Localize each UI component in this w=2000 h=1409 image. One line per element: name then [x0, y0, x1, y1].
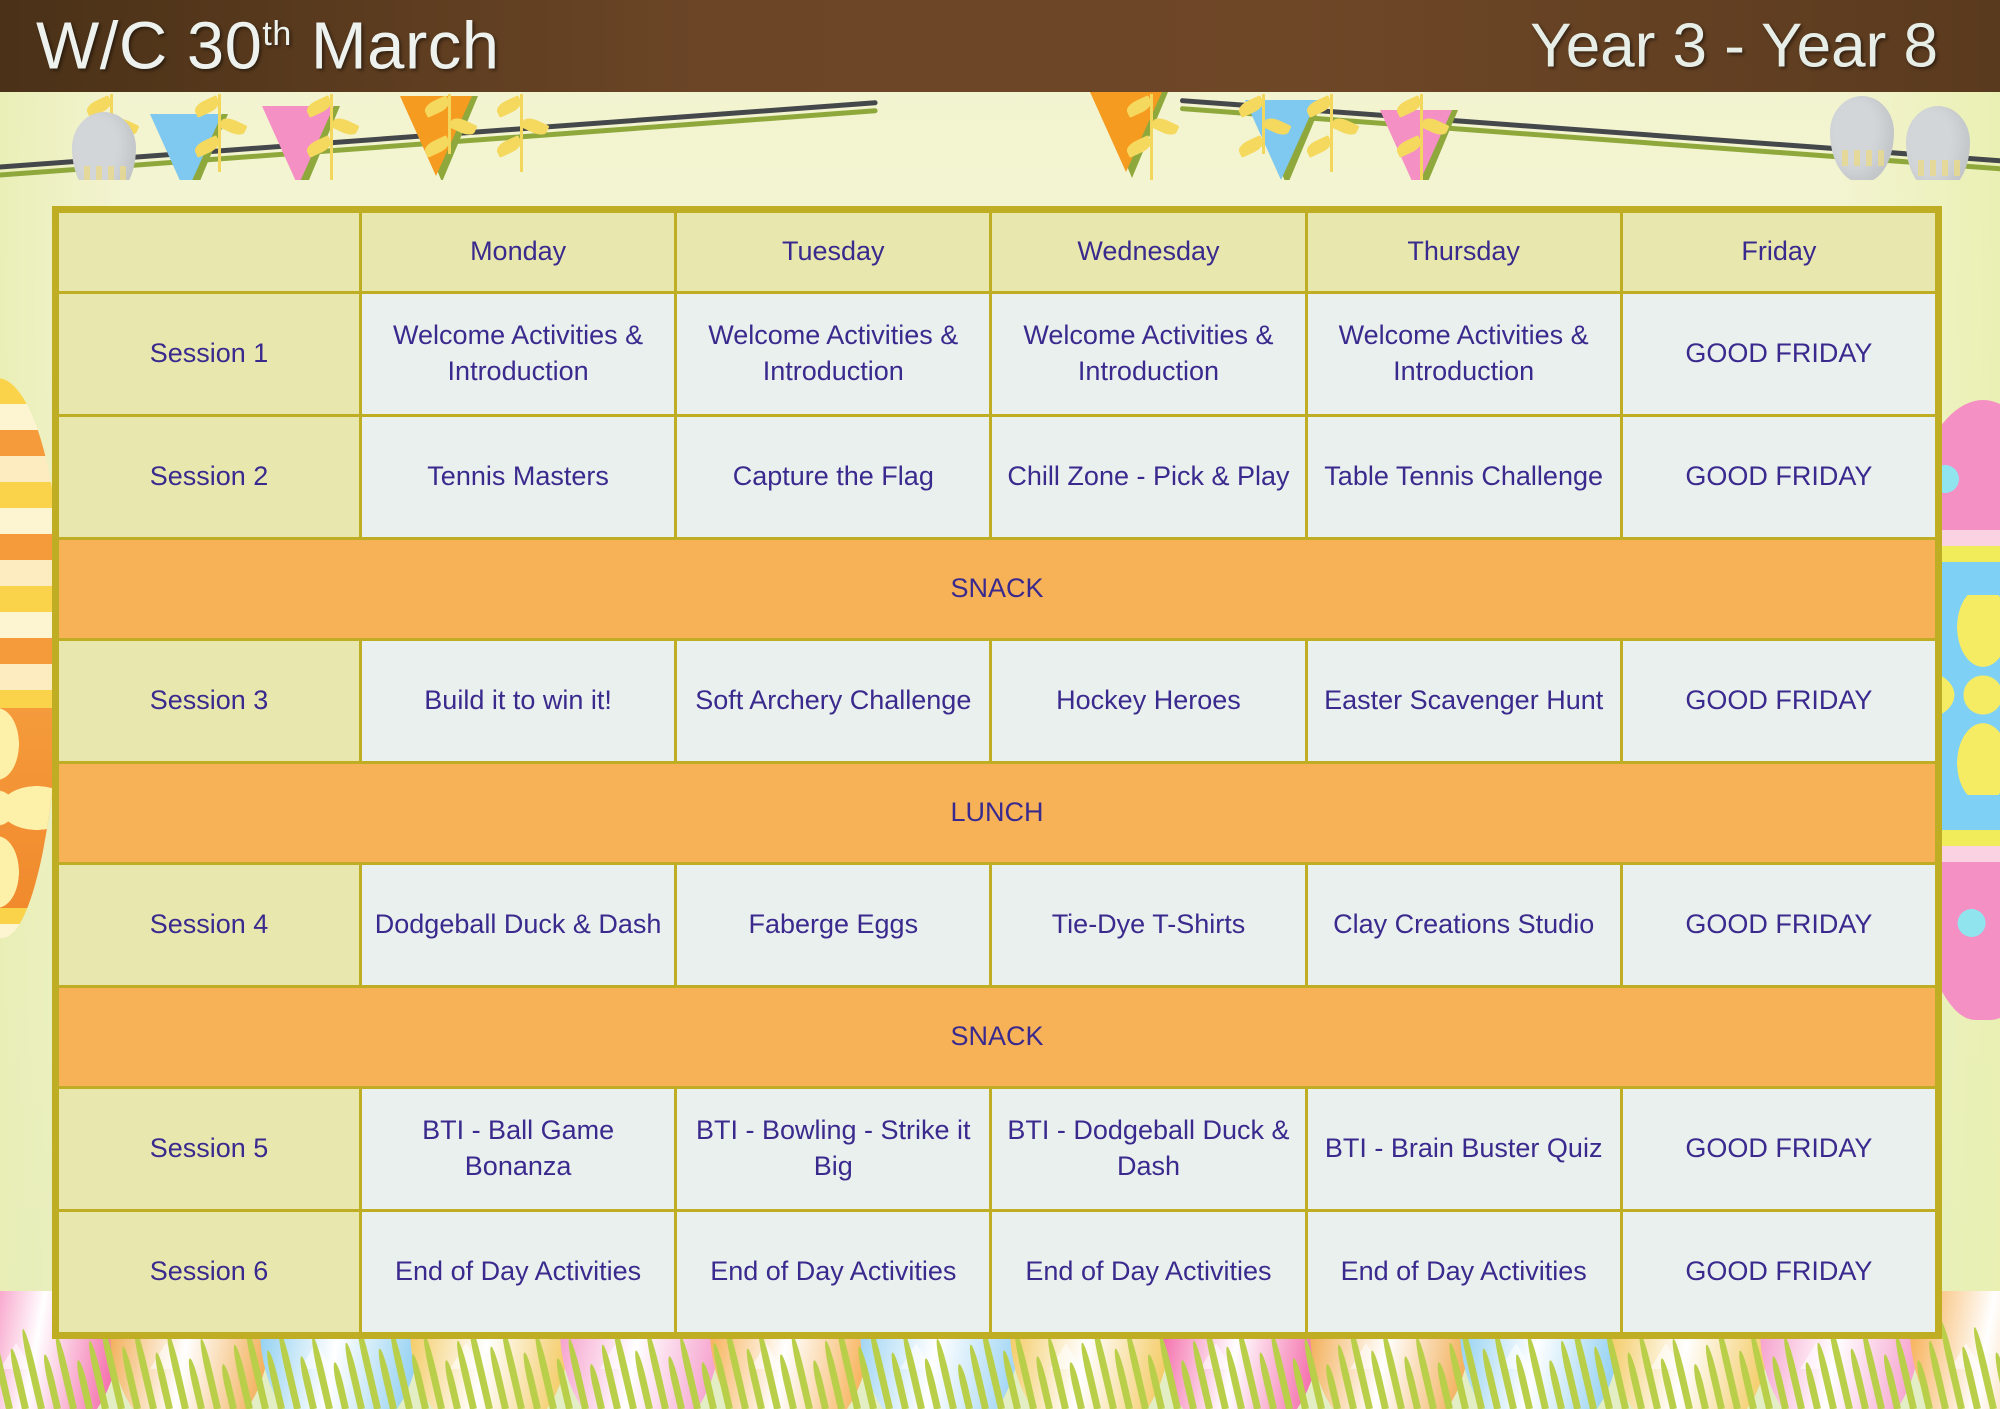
vine-leaf — [422, 135, 451, 158]
grass-blade — [934, 1338, 957, 1409]
grass-blade — [421, 1334, 445, 1409]
bunting-string — [0, 100, 878, 171]
timetable: MondayTuesdayWednesdayThursdayFridaySess… — [56, 210, 1938, 1335]
activity-cell[interactable]: Soft Archery Challenge — [677, 641, 989, 761]
grass-blade — [1993, 1352, 2000, 1409]
activity-cell[interactable]: GOOD FRIDAY — [1623, 1089, 1935, 1209]
bunting-flag — [150, 114, 226, 180]
session-label-cell: Session 2 — [59, 417, 359, 537]
break-label-lunch: LUNCH — [59, 764, 1935, 862]
grass-blade — [231, 1344, 253, 1409]
grass-blade — [8, 1348, 29, 1409]
egg-triangle-pattern — [1050, 1343, 1082, 1369]
day-header-thursday: Thursday — [1308, 213, 1620, 291]
activity-cell[interactable]: Welcome Activities & Introduction — [1308, 294, 1620, 414]
vine-leaf — [448, 115, 477, 138]
grass-blade — [1915, 1359, 1933, 1409]
grass-blade — [699, 1361, 717, 1409]
vine-leaf — [330, 115, 359, 138]
grass-blade — [443, 1359, 461, 1409]
break-row: SNACK — [59, 540, 1935, 638]
grass-blade — [1079, 1342, 1101, 1409]
timetable-corner-cell — [59, 213, 359, 291]
grass-blade — [1269, 1332, 1293, 1409]
bunting-flag — [400, 96, 476, 180]
egg-triangle-pattern — [1800, 1343, 1832, 1369]
grass-blade — [1926, 1340, 1949, 1409]
vine-leaf — [1124, 95, 1153, 118]
grass-blade — [1770, 1356, 1789, 1409]
grass-blade — [889, 1352, 909, 1409]
vine-leaf — [1124, 135, 1153, 158]
grass-blade — [1435, 1361, 1453, 1409]
vine-leaf — [1420, 115, 1449, 138]
grass-blade — [1369, 1350, 1389, 1409]
title-bar: W/C 30th March Year 3 - Year 8 — [0, 0, 2000, 92]
grass-blade — [1803, 1361, 1821, 1409]
break-row: SNACK — [59, 988, 1935, 1086]
grass-blade — [1179, 1359, 1197, 1409]
grass-blade — [265, 1350, 285, 1409]
grass-blade — [1860, 1328, 1885, 1409]
egg-triangle-pattern — [300, 1343, 332, 1369]
grass-blade — [1525, 1334, 1549, 1409]
grass-blade — [0, 1322, 13, 1409]
grass-blade — [711, 1342, 733, 1409]
activity-cell[interactable]: Faberge Eggs — [677, 865, 989, 985]
activity-cell[interactable]: Welcome Activities & Introduction — [677, 294, 989, 414]
activity-cell[interactable]: GOOD FRIDAY — [1623, 417, 1935, 537]
grass-blade — [1971, 1326, 1997, 1409]
egg-triangle-pattern — [1500, 1343, 1532, 1369]
vine-leaf — [84, 95, 113, 118]
bunting-flag — [262, 106, 338, 180]
grass-blade — [120, 1346, 141, 1409]
activity-cell[interactable]: Dodgeball Duck & Dash — [362, 865, 674, 985]
grass-blade — [220, 1363, 237, 1409]
grass-blade — [901, 1332, 925, 1409]
grass-blade — [1447, 1342, 1469, 1409]
vine-leaf — [422, 95, 451, 118]
grass-blade — [198, 1338, 221, 1409]
bunting-flag — [1245, 100, 1321, 180]
grass-blade — [165, 1332, 189, 1409]
grass-blade — [677, 1336, 700, 1409]
grass-blade — [86, 1340, 109, 1409]
year-group-title: Year 3 - Year 8 — [1530, 11, 1938, 82]
hanging-vine — [1150, 94, 1153, 180]
vine-leaf — [192, 135, 221, 158]
bunting-flag — [1090, 92, 1166, 178]
session-row: Session 4Dodgeball Duck & DashFaberge Eg… — [59, 865, 1935, 985]
grass-blade — [1302, 1338, 1325, 1409]
grass-blade — [599, 1344, 621, 1409]
vine-leaf — [84, 135, 113, 158]
grass-blade — [1324, 1363, 1341, 1409]
hanging-white-egg — [1830, 96, 1894, 180]
grass-blade — [1692, 1363, 1709, 1409]
week-label-month: March — [292, 9, 500, 84]
vine-leaf — [110, 115, 139, 138]
grass-blade — [1781, 1336, 1804, 1409]
grass-blade — [331, 1361, 349, 1409]
grass-blade — [1960, 1346, 1981, 1409]
activity-cell[interactable]: End of Day Activities — [362, 1212, 674, 1332]
activity-cell[interactable]: Welcome Activities & Introduction — [992, 294, 1304, 414]
hanging-vine — [448, 94, 451, 154]
session-row: Session 2Tennis MastersCapture the FlagC… — [59, 417, 1935, 537]
activity-cell[interactable]: BTI - Dodgeball Duck & Dash — [992, 1089, 1304, 1209]
grass-blade — [1748, 1330, 1773, 1409]
grass-blade — [922, 1358, 941, 1409]
grass-blade — [153, 1352, 173, 1409]
vine-leaf — [1304, 95, 1333, 118]
grass-blade — [967, 1344, 989, 1409]
activity-cell[interactable]: GOOD FRIDAY — [1623, 641, 1935, 761]
grass-blade — [1001, 1350, 1021, 1409]
vine-leaf — [1150, 115, 1179, 138]
week-commencing-title: W/C 30th March — [36, 8, 500, 85]
grass-blade — [1190, 1340, 1213, 1409]
timetable-container: MondayTuesdayWednesdayThursdayFridaySess… — [52, 206, 1942, 1339]
grass-blade — [644, 1330, 669, 1409]
session-label-cell: Session 3 — [59, 641, 359, 761]
activity-cell[interactable]: GOOD FRIDAY — [1623, 1212, 1935, 1332]
day-header-friday: Friday — [1623, 213, 1935, 291]
bunting-flag — [1380, 110, 1456, 180]
activity-cell[interactable]: Tie-Dye T-Shirts — [992, 865, 1304, 985]
grass-blade — [488, 1346, 509, 1409]
grass-blade — [554, 1358, 573, 1409]
grass-blade — [1848, 1348, 1869, 1409]
grass-blade — [1112, 1348, 1133, 1409]
egg-triangle-pattern — [1350, 1343, 1382, 1369]
grass-blade — [1492, 1328, 1517, 1409]
grass-blade — [1547, 1359, 1565, 1409]
grass-blade — [1257, 1352, 1277, 1409]
egg-triangle-pattern — [900, 1343, 932, 1369]
activity-cell[interactable]: Table Tennis Challenge — [1308, 417, 1620, 537]
activity-cell[interactable]: BTI - Bowling - Strike it Big — [677, 1089, 989, 1209]
grass-blade — [566, 1338, 589, 1409]
egg-triangle-pattern — [150, 1343, 182, 1369]
grass-blade — [186, 1358, 205, 1409]
grass-blade — [1402, 1356, 1421, 1409]
hanging-white-egg — [72, 112, 136, 180]
break-label-snack: SNACK — [59, 540, 1935, 638]
activity-cell[interactable]: End of Day Activities — [1308, 1212, 1620, 1332]
vine-leaf — [494, 95, 523, 118]
vine-leaf — [1394, 135, 1423, 158]
vine-leaf — [192, 95, 221, 118]
grass-blade — [666, 1356, 685, 1409]
grass-blade — [533, 1332, 557, 1409]
grass-blade — [1592, 1346, 1613, 1409]
bunting-string — [0, 108, 878, 179]
egg-triangle-pattern — [750, 1343, 782, 1369]
grass-blade — [633, 1350, 653, 1409]
week-label-prefix: W/C 30 — [36, 9, 262, 84]
grass-blade — [1290, 1358, 1309, 1409]
activity-cell[interactable]: Easter Scavenger Hunt — [1308, 641, 1620, 761]
grass-blade — [409, 1354, 428, 1409]
grass-blade — [1045, 1336, 1068, 1409]
vine-leaf — [1394, 95, 1423, 118]
vine-leaf — [1330, 115, 1359, 138]
grass-blade — [1034, 1356, 1053, 1409]
grass-blade — [521, 1352, 541, 1409]
grass-blade — [298, 1356, 317, 1409]
grass-blade — [822, 1340, 845, 1409]
grass-blade — [20, 1328, 45, 1409]
activity-cell[interactable]: End of Day Activities — [677, 1212, 989, 1332]
grass-blade — [1145, 1354, 1164, 1409]
grass-blade — [811, 1359, 829, 1409]
hanging-vine — [330, 94, 333, 180]
grass-blade — [1703, 1344, 1725, 1409]
break-row: LUNCH — [59, 764, 1935, 862]
day-header-wednesday: Wednesday — [992, 213, 1304, 291]
activity-cell[interactable]: Hockey Heroes — [992, 641, 1304, 761]
session-row: Session 1Welcome Activities & Introducti… — [59, 294, 1935, 414]
poster-page: W/C 30th March Year 3 - Year 8 MondayTue… — [0, 0, 2000, 1409]
session-row: Session 5BTI - Ball Game BonanzaBTI - Bo… — [59, 1089, 1935, 1209]
hanging-white-egg — [1906, 106, 1970, 180]
grass-blade — [1480, 1348, 1501, 1409]
grass-blade — [309, 1336, 332, 1409]
grass-blade — [1670, 1338, 1693, 1409]
vine-leaf — [218, 115, 247, 138]
grass-blade — [756, 1328, 781, 1409]
session-label-cell: Session 6 — [59, 1212, 359, 1332]
grass-blade — [956, 1363, 973, 1409]
day-header-tuesday: Tuesday — [677, 213, 989, 291]
session-label-cell: Session 1 — [59, 294, 359, 414]
vine-leaf — [1304, 135, 1333, 158]
bunting-string — [1180, 106, 2000, 177]
bunting-string — [1180, 98, 2000, 169]
week-label-ordinal-suffix: th — [262, 15, 291, 53]
grass-blade — [376, 1348, 397, 1409]
grass-blade — [1380, 1330, 1405, 1409]
grass-blade — [41, 1354, 60, 1409]
activity-cell[interactable]: GOOD FRIDAY — [1623, 865, 1935, 985]
egg-triangle-pattern — [1200, 1343, 1232, 1369]
activity-cell[interactable]: End of Day Activities — [992, 1212, 1304, 1332]
egg-triangle-pattern — [600, 1343, 632, 1369]
activity-cell[interactable]: BTI - Brain Buster Quiz — [1308, 1089, 1620, 1209]
grass-blade — [1558, 1340, 1581, 1409]
hanging-vine — [520, 94, 523, 172]
break-label-snack: SNACK — [59, 988, 1935, 1086]
session-label-cell: Session 4 — [59, 865, 359, 985]
activity-cell[interactable]: Chill Zone - Pick & Play — [992, 417, 1304, 537]
grass-blade — [53, 1334, 77, 1409]
session-row: Session 6End of Day ActivitiesEnd of Day… — [59, 1212, 1935, 1332]
grass-blade — [856, 1346, 877, 1409]
grass-blade — [588, 1363, 605, 1409]
hanging-vine — [218, 94, 221, 172]
vine-leaf — [1236, 135, 1265, 158]
hanging-vine — [1330, 94, 1333, 172]
grass-blade — [1737, 1350, 1757, 1409]
vine-leaf — [304, 135, 333, 158]
grass-blade — [276, 1330, 301, 1409]
grass-blade — [1893, 1334, 1917, 1409]
egg-triangle-pattern — [450, 1343, 482, 1369]
hanging-vine — [1420, 94, 1423, 180]
grass-blade — [1157, 1334, 1181, 1409]
egg-triangle-pattern — [1650, 1343, 1682, 1369]
activity-cell[interactable]: Build it to win it! — [362, 641, 674, 761]
grass-blade — [75, 1359, 93, 1409]
vine-leaf — [494, 135, 523, 158]
egg-triangle-pattern — [0, 1343, 32, 1369]
session-label-cell: Session 5 — [59, 1089, 359, 1209]
grass-blade — [1881, 1354, 1900, 1409]
grass-blade — [1625, 1352, 1645, 1409]
activity-cell[interactable]: Welcome Activities & Introduction — [362, 294, 674, 414]
grass-blade — [1815, 1342, 1837, 1409]
grass-blade — [388, 1328, 413, 1409]
grass-blade — [1224, 1346, 1245, 1409]
grass-blade — [744, 1348, 765, 1409]
activity-cell[interactable]: GOOD FRIDAY — [1623, 294, 1935, 414]
hanging-vine — [110, 94, 113, 154]
activity-cell[interactable]: Clay Creations Studio — [1308, 865, 1620, 985]
bunting-decoration — [0, 88, 2000, 180]
activity-cell[interactable]: Tennis Masters — [362, 417, 674, 537]
timetable-header-row: MondayTuesdayWednesdayThursdayFriday — [59, 213, 1935, 291]
grass-blade — [789, 1334, 813, 1409]
grass-blade — [1335, 1344, 1357, 1409]
hanging-vine — [1262, 94, 1265, 154]
grass-blade — [777, 1354, 796, 1409]
grass-blade — [1067, 1361, 1085, 1409]
session-row: Session 3Build it to win it!Soft Archery… — [59, 641, 1935, 761]
vine-leaf — [1262, 115, 1291, 138]
grass-blade — [1637, 1332, 1661, 1409]
grass-blade — [454, 1340, 477, 1409]
vine-leaf — [304, 95, 333, 118]
activity-cell[interactable]: BTI - Ball Game Bonanza — [362, 1089, 674, 1209]
grass-blade — [1513, 1354, 1532, 1409]
vine-leaf — [1236, 95, 1265, 118]
day-header-monday: Monday — [362, 213, 674, 291]
activity-cell[interactable]: Capture the Flag — [677, 417, 989, 537]
egg-triangle-pattern — [1950, 1343, 1982, 1369]
grass-blade — [1413, 1336, 1436, 1409]
vine-leaf — [520, 115, 549, 138]
grass-blade — [1658, 1358, 1677, 1409]
grass-blade — [1012, 1330, 1037, 1409]
grass-blade — [343, 1342, 365, 1409]
grass-blade — [1124, 1328, 1149, 1409]
